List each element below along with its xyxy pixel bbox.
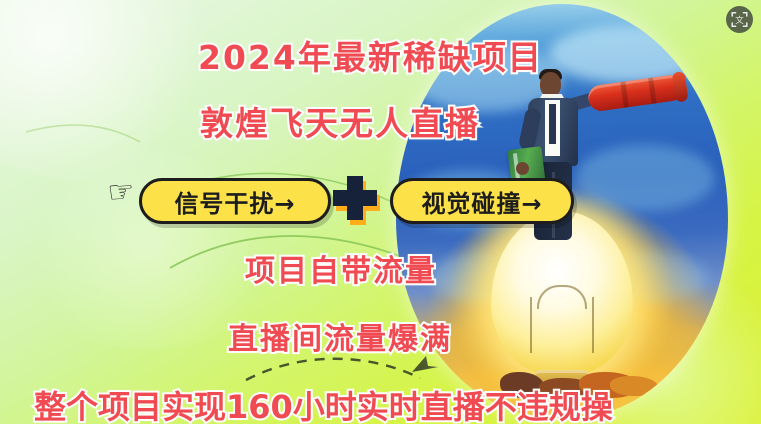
telescope-band [620, 81, 629, 107]
lightbulb-filament [530, 297, 594, 353]
promo-poster: 2024年最新稀缺项目 敦煌飞天无人直播 项目自带流量 直播间流量爆满 整个项目… [0, 0, 761, 424]
lightbulb-filament-loop [537, 285, 587, 309]
text-scan-button[interactable]: 文 [726, 6, 753, 33]
pointing-hand-icon: ☞ [103, 175, 139, 211]
plus-separator [333, 176, 377, 220]
rock [610, 376, 658, 396]
badge-signal-interference[interactable]: 信号干扰→ [139, 178, 331, 224]
telescope-band [648, 77, 657, 103]
text-scan-icon: 文 [731, 11, 748, 28]
plus-icon [333, 176, 377, 220]
svg-text:文: 文 [735, 15, 744, 26]
benefit-line-traffic: 项目自带流量 [245, 246, 437, 290]
footer-claim-line: 整个项目实现160小时实时直播不违规操 [34, 382, 613, 424]
head [540, 72, 561, 97]
page-title-secondary: 敦煌飞天无人直播 [200, 97, 480, 145]
hand [516, 162, 529, 175]
benefit-line-room-traffic: 直播间流量爆满 [228, 314, 452, 358]
badge-visual-collision[interactable]: 视觉碰撞→ [390, 178, 574, 224]
tie [549, 104, 556, 144]
background-highlight-top-left [0, 0, 230, 180]
page-title-primary: 2024年最新稀缺项目 [198, 31, 543, 79]
